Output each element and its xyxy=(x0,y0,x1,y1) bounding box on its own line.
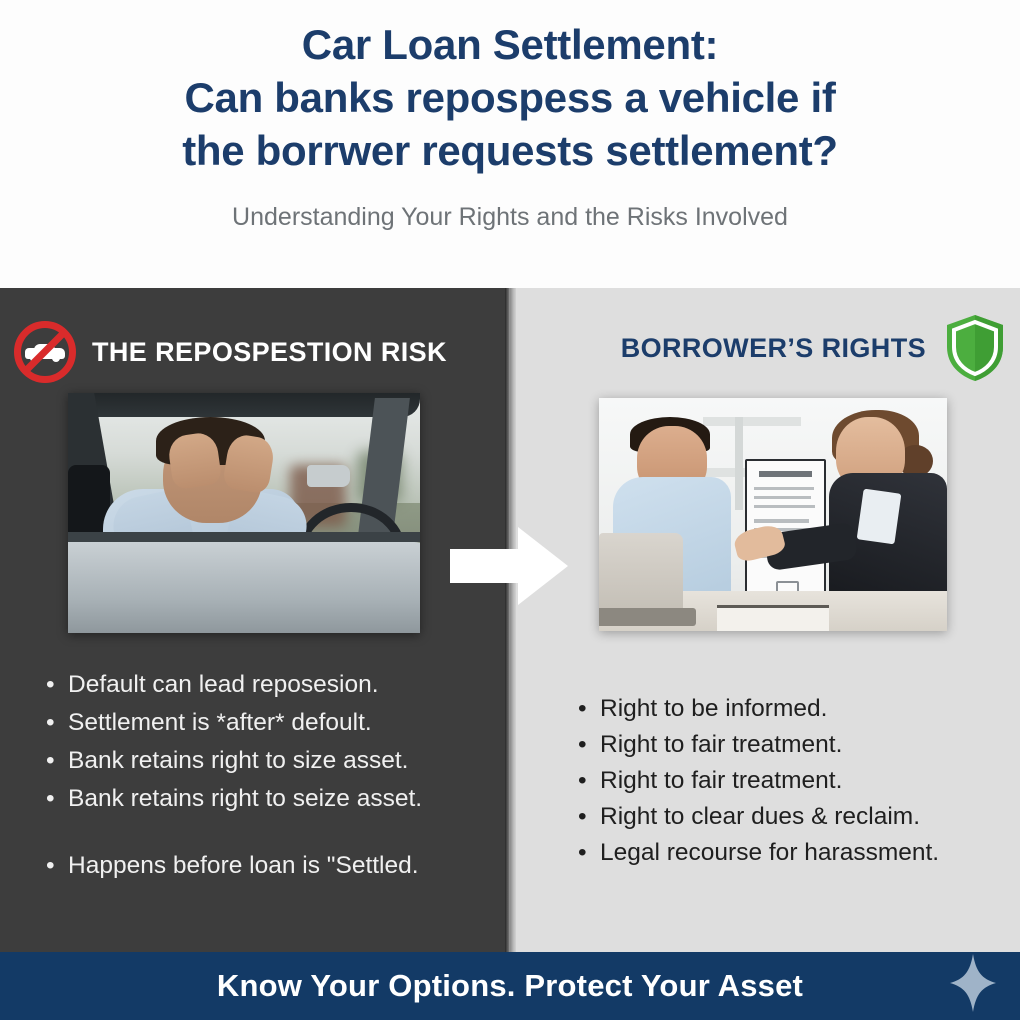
left-panel-heading: THE REPOSPESTION RISK xyxy=(92,337,447,368)
transition-arrow-right-icon xyxy=(450,527,568,605)
list-item: Legal recourse for harassment. xyxy=(576,835,939,871)
comparison-panels: THE REPOSPESTION RISK xyxy=(0,288,1020,952)
header-section: Car Loan Settlement: Can banks repospess… xyxy=(0,0,1020,288)
stressed-driver-photo xyxy=(68,393,420,633)
list-item: Right to fair treatment. xyxy=(576,727,939,763)
stressed-driver-illustration xyxy=(68,393,420,633)
laptop-screen xyxy=(599,533,683,617)
no-car-icon xyxy=(14,321,76,383)
list-item: Bank retains right to seize asset. xyxy=(44,780,422,818)
car-wheel-rear xyxy=(52,354,60,362)
advisor-meeting-illustration xyxy=(599,398,947,631)
page-title: Car Loan Settlement: Can banks repospess… xyxy=(60,18,960,177)
footer-banner: Know Your Options. Protect Your Asset xyxy=(0,952,1020,1020)
footer-tagline: Know Your Options. Protect Your Asset xyxy=(0,952,1020,1020)
rights-bullet-list: Right to be informed. Right to fair trea… xyxy=(576,691,939,871)
panel-repossession-risk: THE REPOSPESTION RISK xyxy=(0,288,509,952)
document-text-line xyxy=(754,519,809,522)
office-shelf-upper xyxy=(703,417,800,426)
document-text-line xyxy=(754,505,814,508)
car-door xyxy=(68,542,420,633)
panel-borrower-rights: BORROWER’S RIGHTS xyxy=(516,288,1020,952)
list-item: Default can lead reposesion. xyxy=(44,666,422,704)
advisor-shirt-collar xyxy=(857,489,902,545)
sparkle-icon xyxy=(950,954,996,1012)
title-line-2: Can banks repospess a vehicle if xyxy=(60,71,960,124)
list-item: Happens before loan is "Settled. xyxy=(44,847,422,885)
side-mirror xyxy=(307,465,349,487)
document-text-line xyxy=(754,496,811,499)
list-item: Right to clear dues & reclaim. xyxy=(576,799,939,835)
page-subtitle: Understanding Your Rights and the Risks … xyxy=(60,203,960,232)
laptop-base xyxy=(599,608,696,627)
document-title-bar xyxy=(759,471,813,477)
right-panel-heading: BORROWER’S RIGHTS xyxy=(621,333,926,364)
left-panel-header: THE REPOSPESTION RISK xyxy=(14,324,447,380)
list-item: Bank retains right to size asset. xyxy=(44,742,422,780)
right-panel-header: BORROWER’S RIGHTS xyxy=(621,320,1006,376)
office-shelf-divider xyxy=(735,417,744,510)
title-line-1: Car Loan Settlement: xyxy=(60,18,960,71)
infographic-canvas: Car Loan Settlement: Can banks repospess… xyxy=(0,0,1020,1020)
advisor-meeting-photo xyxy=(599,398,947,631)
list-item: Right to be informed. xyxy=(576,691,939,727)
desk-clipboard xyxy=(717,605,828,631)
document-text-line xyxy=(754,487,814,490)
list-item: Settlement is *after* defoult. xyxy=(44,704,422,742)
title-line-3: the borrwer requests settlement? xyxy=(60,124,960,177)
shield-icon xyxy=(944,313,1006,383)
risk-bullet-list: Default can lead reposesion. Settlement … xyxy=(44,666,422,885)
list-item: Right to fair treatment. xyxy=(576,763,939,799)
car-roof-interior xyxy=(68,393,420,417)
car-door-top xyxy=(68,532,420,542)
